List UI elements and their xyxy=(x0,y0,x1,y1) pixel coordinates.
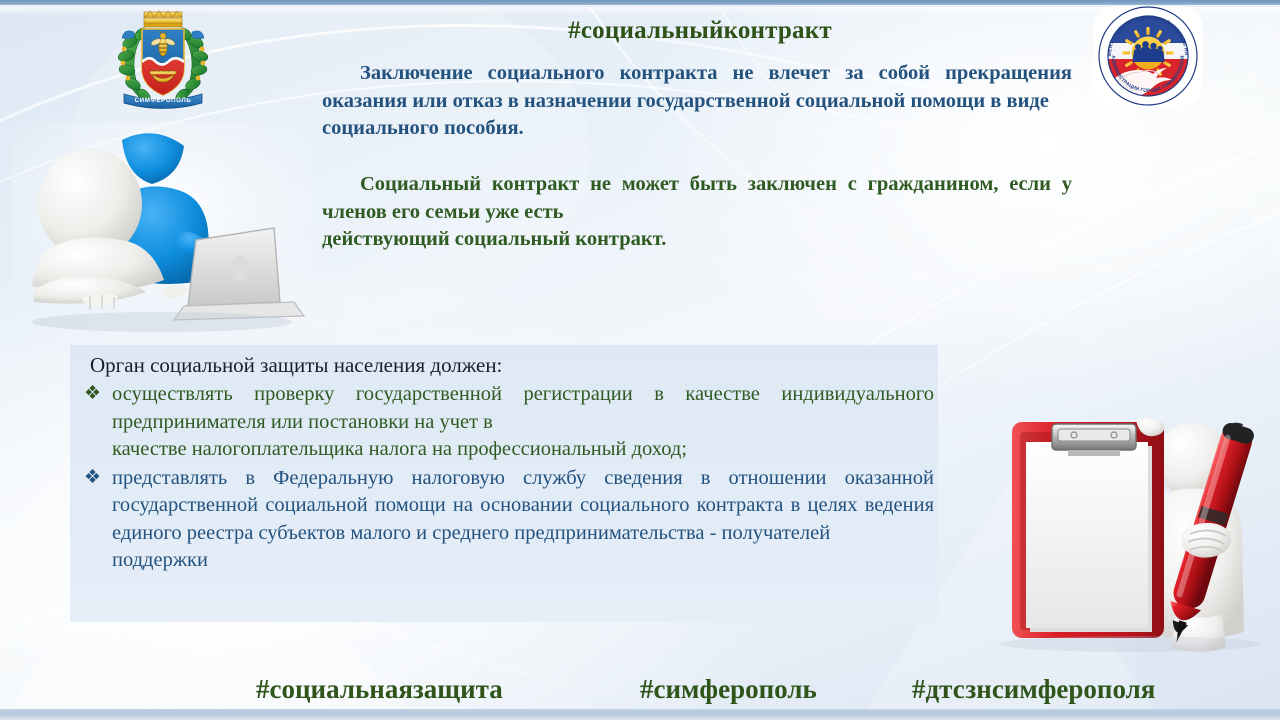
list-item-body: осуществлять проверку государственной ре… xyxy=(112,383,934,433)
diamond-bullet-icon: ❖ xyxy=(84,464,101,492)
paragraph-blue-lastline: социального пособия. xyxy=(322,115,1072,143)
bottom-accent-bar xyxy=(0,709,1280,720)
panel-heading: Орган социальной защиты населения должен… xyxy=(90,352,502,378)
department-emblem-icon: ДЕПАРТАМЕНТ ТРУДА И СОЦИАЛЬНОЙ ЗАЩИТЫ НА… xyxy=(1089,4,1207,108)
people-at-laptop-illustration xyxy=(12,122,312,334)
paragraph-blue-body: Заключение социального контракта не влеч… xyxy=(322,62,1072,112)
hashtag-dtszn-simferopolya: #дтсзнсимферополя xyxy=(912,672,1155,706)
requirements-list: ❖ осуществлять проверку государственной … xyxy=(78,381,934,576)
coat-of-arms-ribbon-text: СИМФЕРОПОЛЬ xyxy=(135,97,192,104)
list-item: ❖ осуществлять проверку государственной … xyxy=(78,381,934,464)
list-item-lastline: качестве налогоплательщика налога на про… xyxy=(112,436,934,464)
hashtag-socialnaya-zashita: #социальнаязащита xyxy=(256,672,503,706)
paragraph-green: Социальный контракт не может быть заключ… xyxy=(322,171,1072,254)
requirements-panel: Орган социальной защиты населения должен… xyxy=(70,345,938,622)
clipboard-with-pen-illustration xyxy=(980,412,1270,652)
simferopol-coat-of-arms-icon: СИМФЕРОПОЛЬ xyxy=(108,2,218,112)
list-item-body: представлять в Федеральную налоговую слу… xyxy=(112,467,934,544)
paragraph-green-lastline: действующий социальный контракт. xyxy=(322,226,1072,254)
paragraph-green-body: Социальный контракт не может быть заключ… xyxy=(322,173,1072,223)
slide-canvas: СИМФЕРОПОЛЬ xyxy=(0,0,1280,720)
hashtag-row: #социальнаязащита #симферополь #дтсзнсим… xyxy=(0,666,1280,706)
paragraph-blue: Заключение социального контракта не влеч… xyxy=(322,60,1072,143)
diamond-bullet-icon: ❖ xyxy=(84,380,101,408)
list-item: ❖ представлять в Федеральную налоговую с… xyxy=(78,465,934,575)
list-item-lastline: поддержки xyxy=(112,547,934,575)
slide-title: #социальныйконтракт xyxy=(330,16,1070,46)
hashtag-simferopol: #симферополь xyxy=(640,672,817,706)
